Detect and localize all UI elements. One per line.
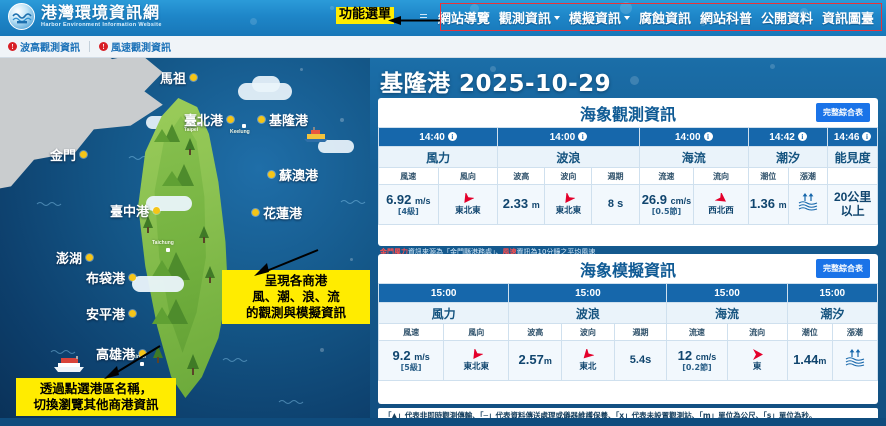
subheader-wave-dir: 波向: [545, 168, 592, 185]
current-speed-value: 26.9: [642, 192, 667, 207]
nav-item-site-map[interactable]: 網站導覽: [438, 8, 490, 27]
nav-item-open-data[interactable]: 公開資料: [761, 8, 813, 27]
port-anping[interactable]: 安平港: [86, 304, 136, 323]
value-wave-height: 2.57m: [509, 341, 562, 381]
wind-speed-value: 9.2: [392, 348, 410, 363]
site-logo[interactable]: 港灣環境資訊網 Harbor Environment Information W…: [8, 3, 162, 30]
value-current-speed: 26.9 cm/s [0.5節]: [639, 185, 694, 225]
category-current: 海流: [667, 303, 787, 324]
value-wave-direction: 東北: [562, 341, 615, 381]
port-marker-icon: [80, 151, 87, 158]
ship-icon: [52, 356, 86, 374]
mountain-icon: [152, 294, 200, 324]
time-cell-wave[interactable]: 14:00i: [498, 128, 639, 147]
mountain-icon: [150, 246, 202, 280]
wind-scale-value: [4級]: [379, 207, 438, 217]
value-wind-speed: 6.92 m/s [4級]: [379, 185, 439, 225]
port-marker-icon: [252, 209, 259, 216]
time-cell-wave[interactable]: 15:00: [509, 284, 667, 303]
time-cell-wind[interactable]: 15:00: [379, 284, 509, 303]
port-marker-icon: [153, 207, 160, 214]
port-data-panel: 基隆港 2025-10-29 海象觀測資訊 完整綜合表 14:40i: [370, 58, 886, 426]
time-value: 14:00: [550, 132, 576, 143]
nav-label: 公開資料: [761, 8, 813, 27]
rising-tide-icon: [797, 193, 819, 211]
subheader-tide-level: 潮位: [748, 168, 788, 185]
wind-direction-value: 東北東: [464, 360, 490, 372]
value-wave-height: 2.33 m: [498, 185, 545, 225]
time-value: 14:42: [769, 132, 795, 143]
port-taipei[interactable]: 臺北港: [184, 110, 234, 129]
port-penghu[interactable]: 澎湖: [56, 248, 93, 267]
observation-category-row: 風力 波浪 海流 潮汐 能見度: [379, 147, 878, 168]
category-wave: 波浪: [498, 147, 639, 168]
subheader-wind-dir: 風向: [444, 324, 509, 341]
category-wind: 風力: [379, 147, 498, 168]
subheader-current-dir: 流向: [694, 168, 749, 185]
callout-line: 透過點選港區名稱，: [22, 381, 170, 397]
callout-info-arrow-icon: [250, 248, 320, 276]
wave-height-value: 2.57: [519, 352, 544, 367]
value-wind-direction: 東北東: [444, 341, 509, 381]
callout-line: 風、潮、浪、流: [228, 289, 364, 305]
simulation-table: 15:00 15:00 15:00 15:00 風力 波浪 海流 潮汐 風速 風…: [378, 283, 878, 381]
port-kinmen[interactable]: 金門: [50, 145, 87, 164]
time-value: 14:00: [675, 132, 701, 143]
time-cell-visibility[interactable]: 14:46i: [828, 128, 878, 147]
observation-subheader-row: 風速 風向 波高 波向 週期 流速 流向 潮位 漲潮: [379, 168, 878, 185]
time-cell-current[interactable]: 14:00i: [639, 128, 748, 147]
wave-direction-arrow-icon: [562, 193, 575, 204]
port-marker-icon: [86, 254, 93, 261]
chevron-down-icon: [624, 16, 630, 20]
subheader-wave-dir: 波向: [562, 324, 615, 341]
info-icon[interactable]: i: [798, 132, 807, 141]
time-cell-tide[interactable]: 14:42i: [748, 128, 827, 147]
nav-label: 觀測資訊: [499, 8, 551, 27]
observation-table: 14:40i 14:00i 14:00i 14:42i 14:46i: [378, 127, 878, 225]
city-dot: [242, 124, 246, 128]
time-cell-current[interactable]: 15:00: [667, 284, 787, 303]
wave-height-unit: m: [544, 356, 552, 366]
port-label: 臺中港: [110, 201, 149, 220]
time-cell-tide[interactable]: 15:00: [787, 284, 877, 303]
value-tide-level: 1.36 m: [748, 185, 788, 225]
wave-decoration-icon: [36, 200, 62, 208]
callout-info: 呈現各商港 風、潮、浪、流 的觀測與模擬資訊: [222, 270, 370, 324]
alert-icon: !: [8, 42, 17, 51]
port-label: 安平港: [86, 304, 125, 323]
tree-icon: [198, 226, 210, 244]
port-label: 蘇澳港: [279, 165, 318, 184]
callout-menu-arrow-icon: [388, 16, 440, 25]
rising-tide-icon: [844, 349, 866, 367]
nav-label: 資訊圖臺: [822, 8, 874, 27]
tree-icon: [204, 266, 216, 284]
callout-click: 透過點選港區名稱， 切換瀏覽其他商港資訊: [16, 378, 176, 416]
tide-level-value: 1.36: [750, 196, 775, 211]
port-label: 澎湖: [56, 248, 82, 267]
wave-decoration-icon: [340, 198, 366, 206]
callout-line: 切換瀏覽其他商港資訊: [22, 397, 170, 413]
observation-card: 海象觀測資訊 完整綜合表 14:40i 14:00i: [378, 98, 878, 246]
nav-item-corrosion[interactable]: 腐蝕資訊: [639, 8, 691, 27]
observation-full-table-button[interactable]: 完整綜合表: [816, 103, 870, 122]
value-visibility: 20公里以上: [828, 185, 878, 225]
subheader-tide-state: 漲潮: [788, 168, 828, 185]
port-label: 金門: [50, 145, 76, 164]
logo-title-cn: 港灣環境資訊網: [41, 5, 162, 21]
nav-label: 腐蝕資訊: [639, 8, 691, 27]
nav-item-info-map[interactable]: 資訊圖臺: [822, 8, 874, 27]
wave-logo-icon: [8, 3, 35, 30]
value-current-speed: 12 cm/s [0.2節]: [667, 341, 727, 381]
nav-label: 網站科普: [700, 8, 752, 27]
wind-speed-unit: m/s: [414, 352, 430, 362]
wave-decoration-icon: [278, 398, 304, 406]
simulation-card: 海象模擬資訊 完整綜合表 15:00 15:00 15:00 15:00 風力: [378, 254, 878, 404]
category-tide: 潮汐: [748, 147, 827, 168]
port-marker-icon: [258, 116, 265, 123]
port-marker-icon: [129, 310, 136, 317]
chevron-down-icon: [554, 16, 560, 20]
time-value: 14:40: [419, 132, 445, 143]
port-budai[interactable]: 布袋港: [86, 268, 136, 287]
wind-speed-value: 6.92: [386, 192, 411, 207]
port-label: 花蓮港: [263, 203, 302, 222]
subheader-current-dir: 流向: [727, 324, 787, 341]
observation-value-row: 6.92 m/s [4級] 東北東 2.33 m: [379, 185, 878, 225]
simulation-title: 海象模擬資訊: [580, 257, 676, 281]
city-dot: [166, 248, 170, 252]
info-icon[interactable]: i: [448, 132, 457, 141]
subheader-wave-period: 週期: [592, 168, 639, 185]
callout-line: 的觀測與模擬資訊: [228, 305, 364, 321]
value-tide-level: 1.44m: [787, 341, 832, 381]
boat-icon: [303, 127, 329, 143]
current-speed-unit: cm/s: [696, 352, 717, 362]
value-wave-period: 5.4s: [614, 341, 667, 381]
port-label: 馬祖: [160, 68, 186, 87]
port-label: 臺北港: [184, 110, 223, 129]
observation-card-header: 海象觀測資訊 完整綜合表: [378, 98, 878, 127]
nav-item-education[interactable]: 網站科普: [700, 8, 752, 27]
info-icon[interactable]: i: [704, 132, 713, 141]
tide-level-unit: m: [818, 356, 826, 366]
port-matsu[interactable]: 馬祖: [160, 68, 197, 87]
subnav-item-wind-speed[interactable]: ! 風速觀測資訊: [99, 39, 171, 54]
time-cell-wind[interactable]: 14:40i: [379, 128, 498, 147]
nav-label: 模擬資訊: [569, 8, 621, 27]
category-visibility: 能見度: [828, 147, 878, 168]
logo-title-en: Harbor Environment Information Website: [41, 23, 162, 29]
current-direction-value: 西北西: [708, 204, 734, 216]
simulation-time-row: 15:00 15:00 15:00 15:00: [379, 284, 878, 303]
taiwan-port-map[interactable]: Taipei Keelung Taichung Tainan Kaohsiung…: [0, 58, 370, 426]
subnav-label: 風速觀測資訊: [111, 39, 171, 54]
port-marker-icon: [129, 274, 136, 281]
subheader-current-speed: 流速: [639, 168, 694, 185]
main-navigation[interactable]: 網站導覽 觀測資訊 模擬資訊 腐蝕資訊 網站科普 公開資料 資訊圖臺: [414, 4, 880, 30]
current-knot-value: [0.2節]: [667, 363, 726, 373]
cloud-icon: [252, 76, 280, 92]
value-wind-direction: 東北東: [438, 185, 498, 225]
subheader-visibility: [828, 168, 878, 185]
subheader-wave-height: 波高: [498, 168, 545, 185]
wave-direction-value: 東北東: [556, 204, 582, 216]
current-knot-value: [0.5節]: [640, 207, 694, 217]
value-tide-state: [788, 185, 828, 225]
port-marker-icon: [190, 74, 197, 81]
current-direction-value: 東: [753, 360, 762, 372]
info-icon[interactable]: i: [862, 132, 871, 141]
port-name: 基隆港: [380, 71, 451, 97]
wave-direction-value: 東北: [579, 360, 596, 372]
site-header: 港灣環境資訊網 Harbor Environment Information W…: [0, 0, 886, 36]
city-label-keelung: Keelung: [230, 129, 250, 135]
observation-date: 2025-10-29: [459, 71, 611, 97]
subnav-item-wave-height[interactable]: ! 波高觀測資訊: [8, 39, 80, 54]
category-wave: 波浪: [509, 303, 667, 324]
simulation-value-row: 9.2 m/s [5級] 東北東 2.57m: [379, 341, 878, 381]
observation-time-row: 14:40i 14:00i 14:00i 14:42i 14:46i: [379, 128, 878, 147]
simulation-subheader-row: 風速 風向 波高 波向 週期 流速 流向 潮位 漲潮: [379, 324, 878, 341]
current-direction-arrow-icon: [715, 193, 728, 204]
wind-scale-value: [5級]: [379, 363, 443, 373]
simulation-category-row: 風力 波浪 海流 潮汐: [379, 303, 878, 324]
wind-direction-arrow-icon: [470, 349, 483, 360]
observation-title: 海象觀測資訊: [580, 101, 676, 125]
value-current-direction: 東: [727, 341, 787, 381]
city-label-taichung: Taichung: [152, 240, 174, 246]
wave-height-unit: m: [532, 200, 540, 210]
wave-direction-arrow-icon: [581, 349, 594, 360]
port-suao[interactable]: 蘇澳港: [268, 165, 318, 184]
value-current-direction: 西北西: [694, 185, 749, 225]
value-wind-speed: 9.2 m/s [5級]: [379, 341, 444, 381]
tree-icon: [184, 138, 196, 156]
subheader-wind-dir: 風向: [438, 168, 498, 185]
subheader-wave-height: 波高: [509, 324, 562, 341]
category-current: 海流: [639, 147, 748, 168]
current-direction-arrow-icon: [751, 349, 764, 360]
port-keelung[interactable]: 基隆港: [258, 110, 308, 129]
mountain-icon: [162, 160, 204, 186]
wave-decoration-icon: [50, 348, 76, 356]
port-marker-icon: [227, 116, 234, 123]
divider: [89, 41, 90, 52]
value-wave-period: 8 s: [592, 185, 639, 225]
wind-direction-arrow-icon: [461, 193, 474, 204]
wind-direction-value: 東北東: [455, 204, 481, 216]
info-icon[interactable]: i: [578, 132, 587, 141]
value-tide-state: [832, 341, 877, 381]
nav-item-observation[interactable]: 觀測資訊: [499, 8, 560, 27]
port-taichung[interactable]: 臺中港: [110, 201, 160, 220]
port-label: 布袋港: [86, 268, 125, 287]
bottom-strip: [0, 418, 886, 426]
simulation-full-table-button[interactable]: 完整綜合表: [816, 259, 870, 278]
current-speed-value: 12: [678, 348, 692, 363]
visibility-value: 20公里以上: [828, 191, 877, 217]
current-speed-unit: cm/s: [671, 196, 692, 206]
port-hualien[interactable]: 花蓮港: [252, 203, 302, 222]
subheader-tide-state: 漲潮: [832, 324, 877, 341]
subnav-label: 波高觀測資訊: [20, 39, 80, 54]
category-wind: 風力: [379, 303, 509, 324]
wave-period-value: 8 s: [592, 198, 638, 210]
sub-navigation: ! 波高觀測資訊 ! 風速觀測資訊: [0, 36, 886, 58]
nav-label: 網站導覽: [438, 8, 490, 27]
wave-period-value: 5.4s: [615, 354, 667, 366]
subheader-wind-speed: 風速: [379, 168, 439, 185]
nav-item-simulation[interactable]: 模擬資訊: [569, 8, 630, 27]
callout-function-menu: 功能選單: [336, 7, 394, 24]
cloud-icon: [132, 276, 184, 292]
tree-icon: [186, 354, 200, 376]
time-value: 14:46: [834, 132, 860, 143]
page-title: 基隆港 2025-10-29: [380, 64, 611, 98]
subheader-wind-speed: 風速: [379, 324, 444, 341]
tide-level-unit: m: [779, 200, 787, 210]
wave-height-value: 2.33: [503, 196, 528, 211]
subheader-wave-period: 週期: [614, 324, 667, 341]
subheader-current-speed: 流速: [667, 324, 727, 341]
callout-click-arrow-icon: [100, 344, 162, 380]
tide-level-value: 1.44: [793, 352, 818, 367]
value-wave-direction: 東北東: [545, 185, 592, 225]
simulation-card-header: 海象模擬資訊 完整綜合表: [378, 254, 878, 283]
subheader-tide-level: 潮位: [787, 324, 832, 341]
port-marker-icon: [268, 171, 275, 178]
wind-speed-unit: m/s: [415, 196, 431, 206]
category-tide: 潮汐: [787, 303, 877, 324]
alert-icon: !: [99, 42, 108, 51]
